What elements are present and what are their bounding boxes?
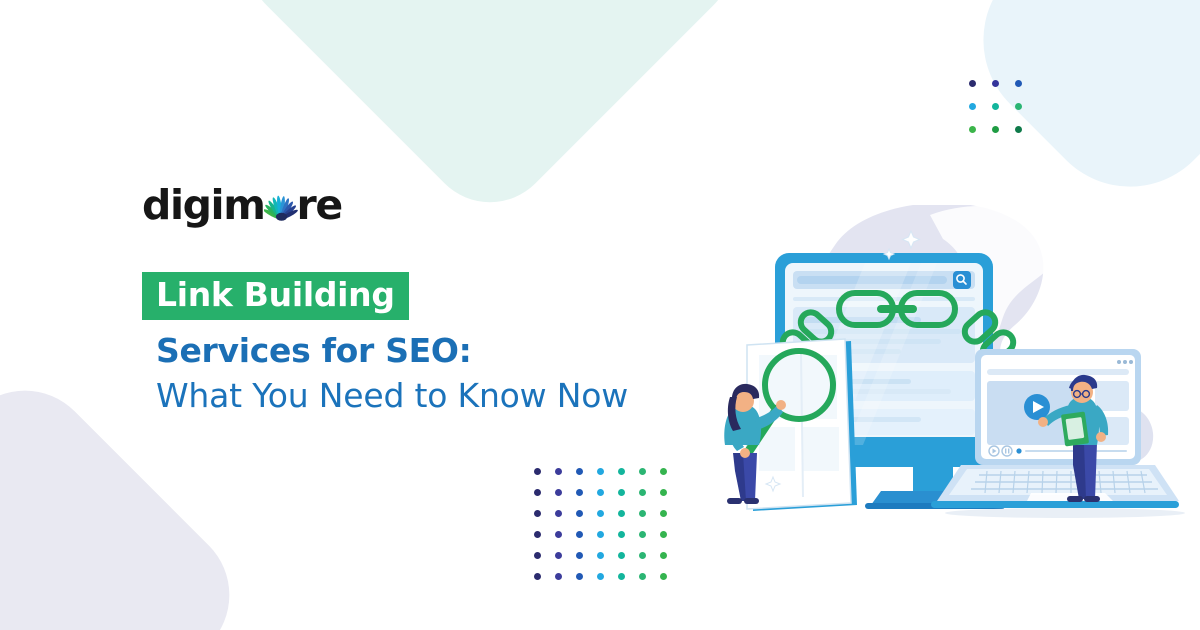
grid-dot — [576, 573, 583, 580]
grid-dot — [660, 468, 667, 475]
grid-dot — [534, 510, 541, 517]
grid-dot — [534, 468, 541, 475]
grid-dot — [660, 531, 667, 538]
peacock-fan-icon — [264, 193, 298, 223]
grid-dot — [555, 531, 562, 538]
grid-dot — [534, 489, 541, 496]
logo-text-after: re — [297, 185, 342, 226]
grid-dot — [969, 126, 976, 133]
grid-dot — [597, 573, 604, 580]
grid-dot — [555, 573, 562, 580]
dot-grid-gradient — [534, 468, 681, 594]
grid-dot — [618, 552, 625, 559]
grid-dot — [576, 489, 583, 496]
grid-dot — [969, 103, 976, 110]
grid-dot — [597, 552, 604, 559]
grid-dot — [597, 489, 604, 496]
grid-dot — [639, 573, 646, 580]
headline-line2: Services for SEO: — [142, 332, 782, 370]
grid-dot — [639, 489, 646, 496]
grid-dot — [618, 510, 625, 517]
headline-line3: What You Need to Know Now — [142, 377, 782, 415]
grid-dot — [555, 489, 562, 496]
grid-dot — [576, 552, 583, 559]
search-icon — [953, 271, 971, 289]
grid-dot — [639, 510, 646, 517]
play-button — [1024, 394, 1050, 420]
grid-dot — [534, 531, 541, 538]
grid-dot — [534, 573, 541, 580]
seo-link-building-illustration — [715, 205, 1185, 525]
grid-dot — [660, 489, 667, 496]
grid-dot — [618, 468, 625, 475]
grid-dot — [576, 531, 583, 538]
dot-grid-small — [969, 80, 1038, 149]
laptop-browser-dots — [1117, 360, 1133, 364]
grid-dot — [639, 468, 646, 475]
grid-dot — [660, 552, 667, 559]
grid-dot — [597, 468, 604, 475]
grid-dot — [555, 510, 562, 517]
grid-dot — [1015, 80, 1022, 87]
grid-dot — [555, 552, 562, 559]
headline-line1-highlight: Link Building — [142, 272, 409, 320]
grid-dot — [597, 510, 604, 517]
grid-dot — [660, 573, 667, 580]
headline-block: Link Building Services for SEO: What You… — [142, 272, 782, 415]
grid-dot — [992, 126, 999, 133]
grid-dot — [1015, 103, 1022, 110]
grid-dot — [576, 468, 583, 475]
grid-dot — [1015, 126, 1022, 133]
brand-logo[interactable]: digim — [142, 183, 342, 227]
grid-dot — [618, 531, 625, 538]
grid-dot — [534, 552, 541, 559]
clipboard — [1061, 411, 1089, 446]
grid-dot — [660, 510, 667, 517]
grid-dot — [639, 531, 646, 538]
grid-dot — [639, 552, 646, 559]
grid-dot — [618, 489, 625, 496]
grid-dot — [576, 510, 583, 517]
grid-dot — [992, 103, 999, 110]
grid-dot — [555, 468, 562, 475]
banner-root: digim — [0, 0, 1200, 630]
grid-dot — [597, 531, 604, 538]
grid-dot — [618, 573, 625, 580]
grid-dot — [992, 80, 999, 87]
logo-text-before: digim — [142, 185, 265, 226]
headline-line1-wrapper: Link Building — [142, 272, 409, 320]
grid-dot — [969, 80, 976, 87]
